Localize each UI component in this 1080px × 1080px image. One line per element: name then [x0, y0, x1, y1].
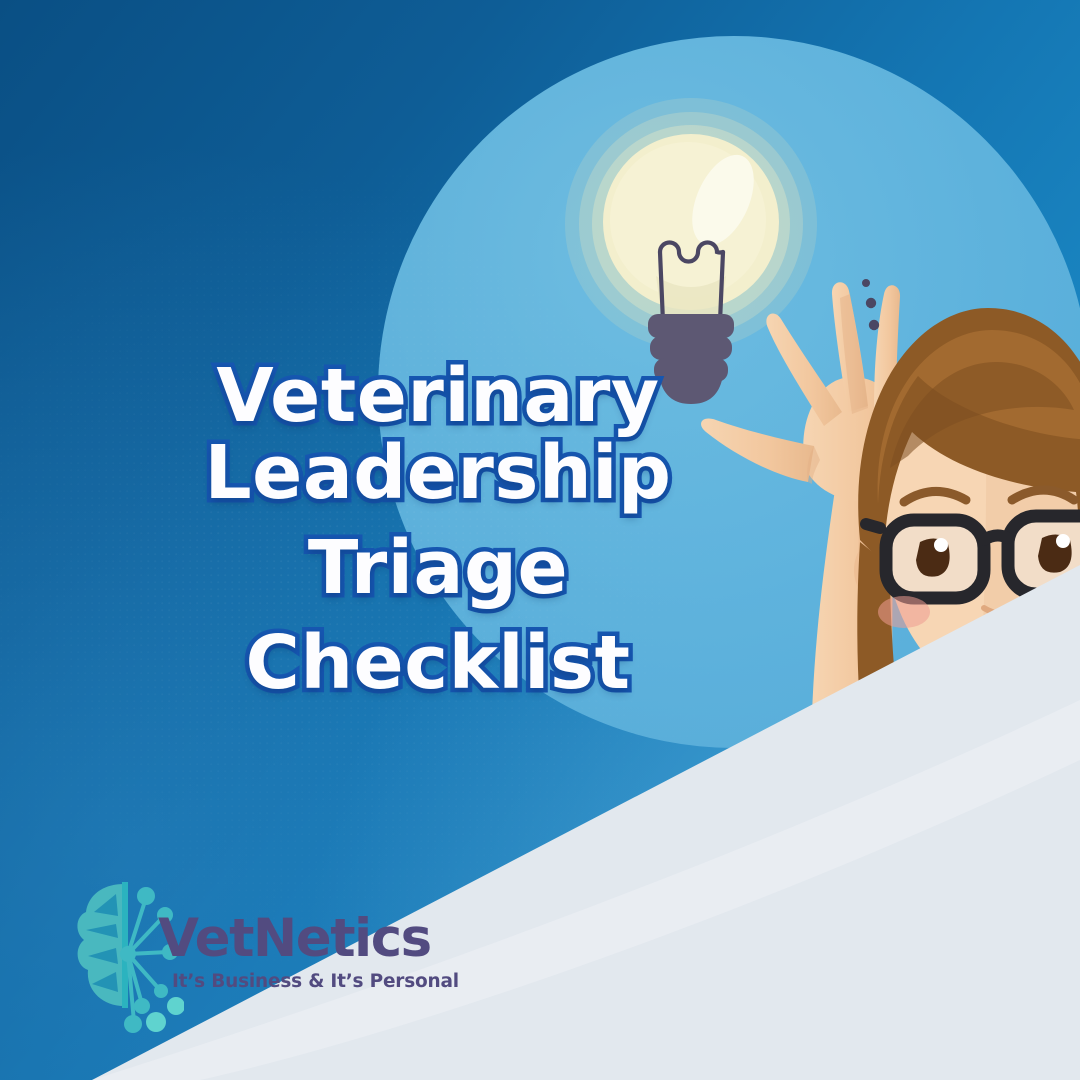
- logo-tagline: It’s Business & It’s Personal: [172, 971, 438, 992]
- vetnetics-logo[interactable]: VetNetics It’s Business & It’s Personal: [72, 872, 432, 1040]
- logo-brand: VetNetics: [158, 912, 438, 965]
- veterinarian-illustration: [560, 170, 1080, 1080]
- logo-text-block: VetNetics It’s Business & It’s Personal: [158, 912, 438, 992]
- poster-canvas: Veterinary Leadership Triage Checklist: [0, 0, 1080, 1080]
